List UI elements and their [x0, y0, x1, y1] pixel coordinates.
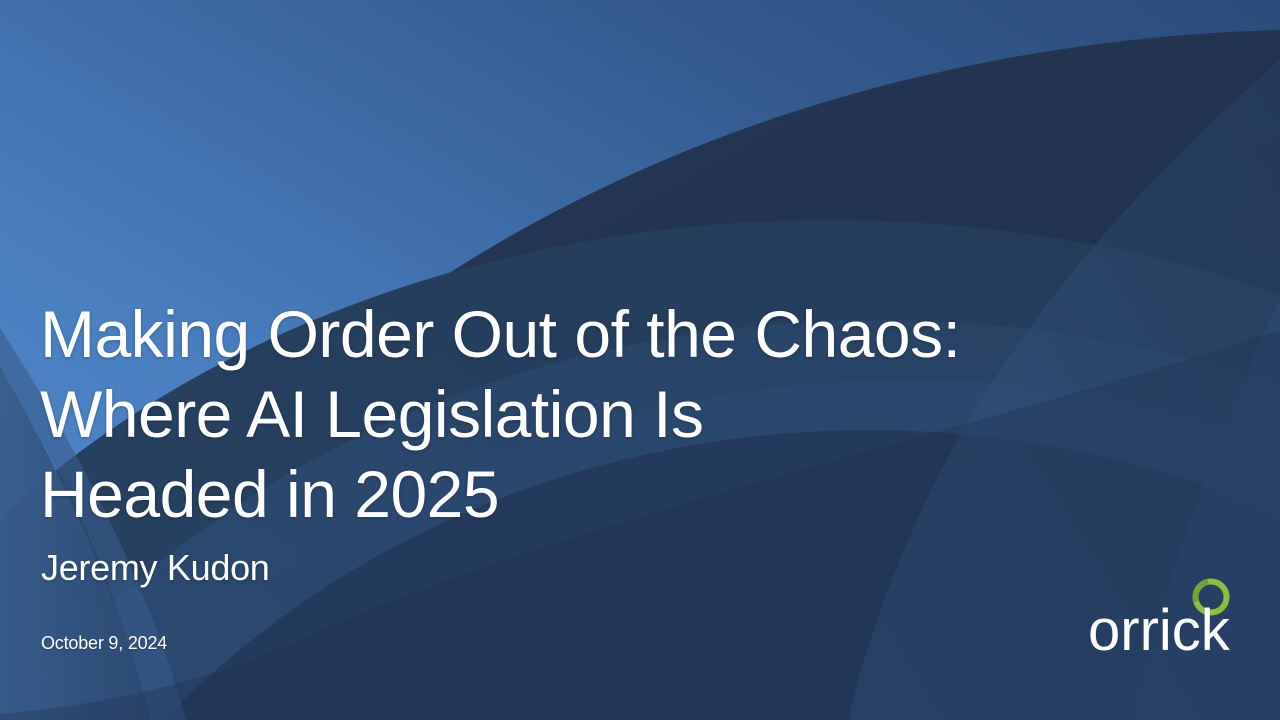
slide-content: Making Order Out of the Chaos: Where AI …: [0, 0, 1280, 720]
title-slide: Making Order Out of the Chaos: Where AI …: [0, 0, 1280, 720]
orrick-wordmark: orrick: [1088, 602, 1230, 660]
presenter-name: Jeremy Kudon: [41, 546, 270, 590]
orrick-logo: orrick: [1088, 575, 1248, 660]
page-title: Making Order Out of the Chaos: Where AI …: [40, 294, 1160, 534]
presentation-date: October 9, 2024: [41, 632, 167, 654]
